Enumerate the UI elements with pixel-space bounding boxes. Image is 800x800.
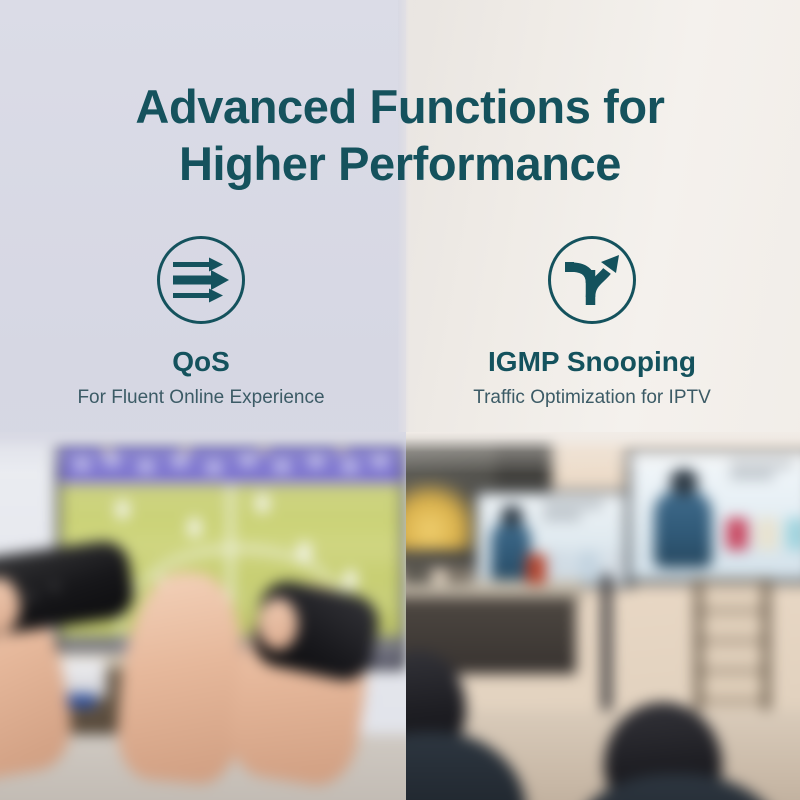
feature-qos-title: QoS: [172, 346, 230, 378]
gaming-photo-blur-layer: [0, 432, 406, 800]
feature-qos: QoS For Fluent Online Experience: [1, 236, 401, 436]
gaming-controller-tv-photo: [0, 432, 406, 800]
showroom-photo-blur-layer: [406, 432, 800, 800]
promo-banner: Advanced Functions for Higher Performanc…: [0, 0, 800, 800]
three-arrows-icon: [157, 236, 245, 324]
feature-igmp-description: Traffic Optimization for IPTV: [473, 386, 711, 409]
feature-igmp-snooping: IGMP Snooping Traffic Optimization for I…: [392, 236, 792, 436]
page-title-line-1: Advanced Functions for: [0, 78, 800, 135]
feature-igmp-title: IGMP Snooping: [488, 346, 696, 378]
feature-list: QoS For Fluent Online Experience: [0, 236, 800, 436]
stadium-stands: [60, 442, 402, 484]
display-monitor-large: [626, 446, 800, 584]
branching-arrow-icon: [548, 236, 636, 324]
tv-showroom-photo: [406, 432, 800, 800]
page-title-line-2: Higher Performance: [0, 135, 800, 192]
page-title: Advanced Functions for Higher Performanc…: [0, 78, 800, 192]
photo-band: [0, 432, 800, 800]
feature-qos-description: For Fluent Online Experience: [77, 386, 324, 409]
